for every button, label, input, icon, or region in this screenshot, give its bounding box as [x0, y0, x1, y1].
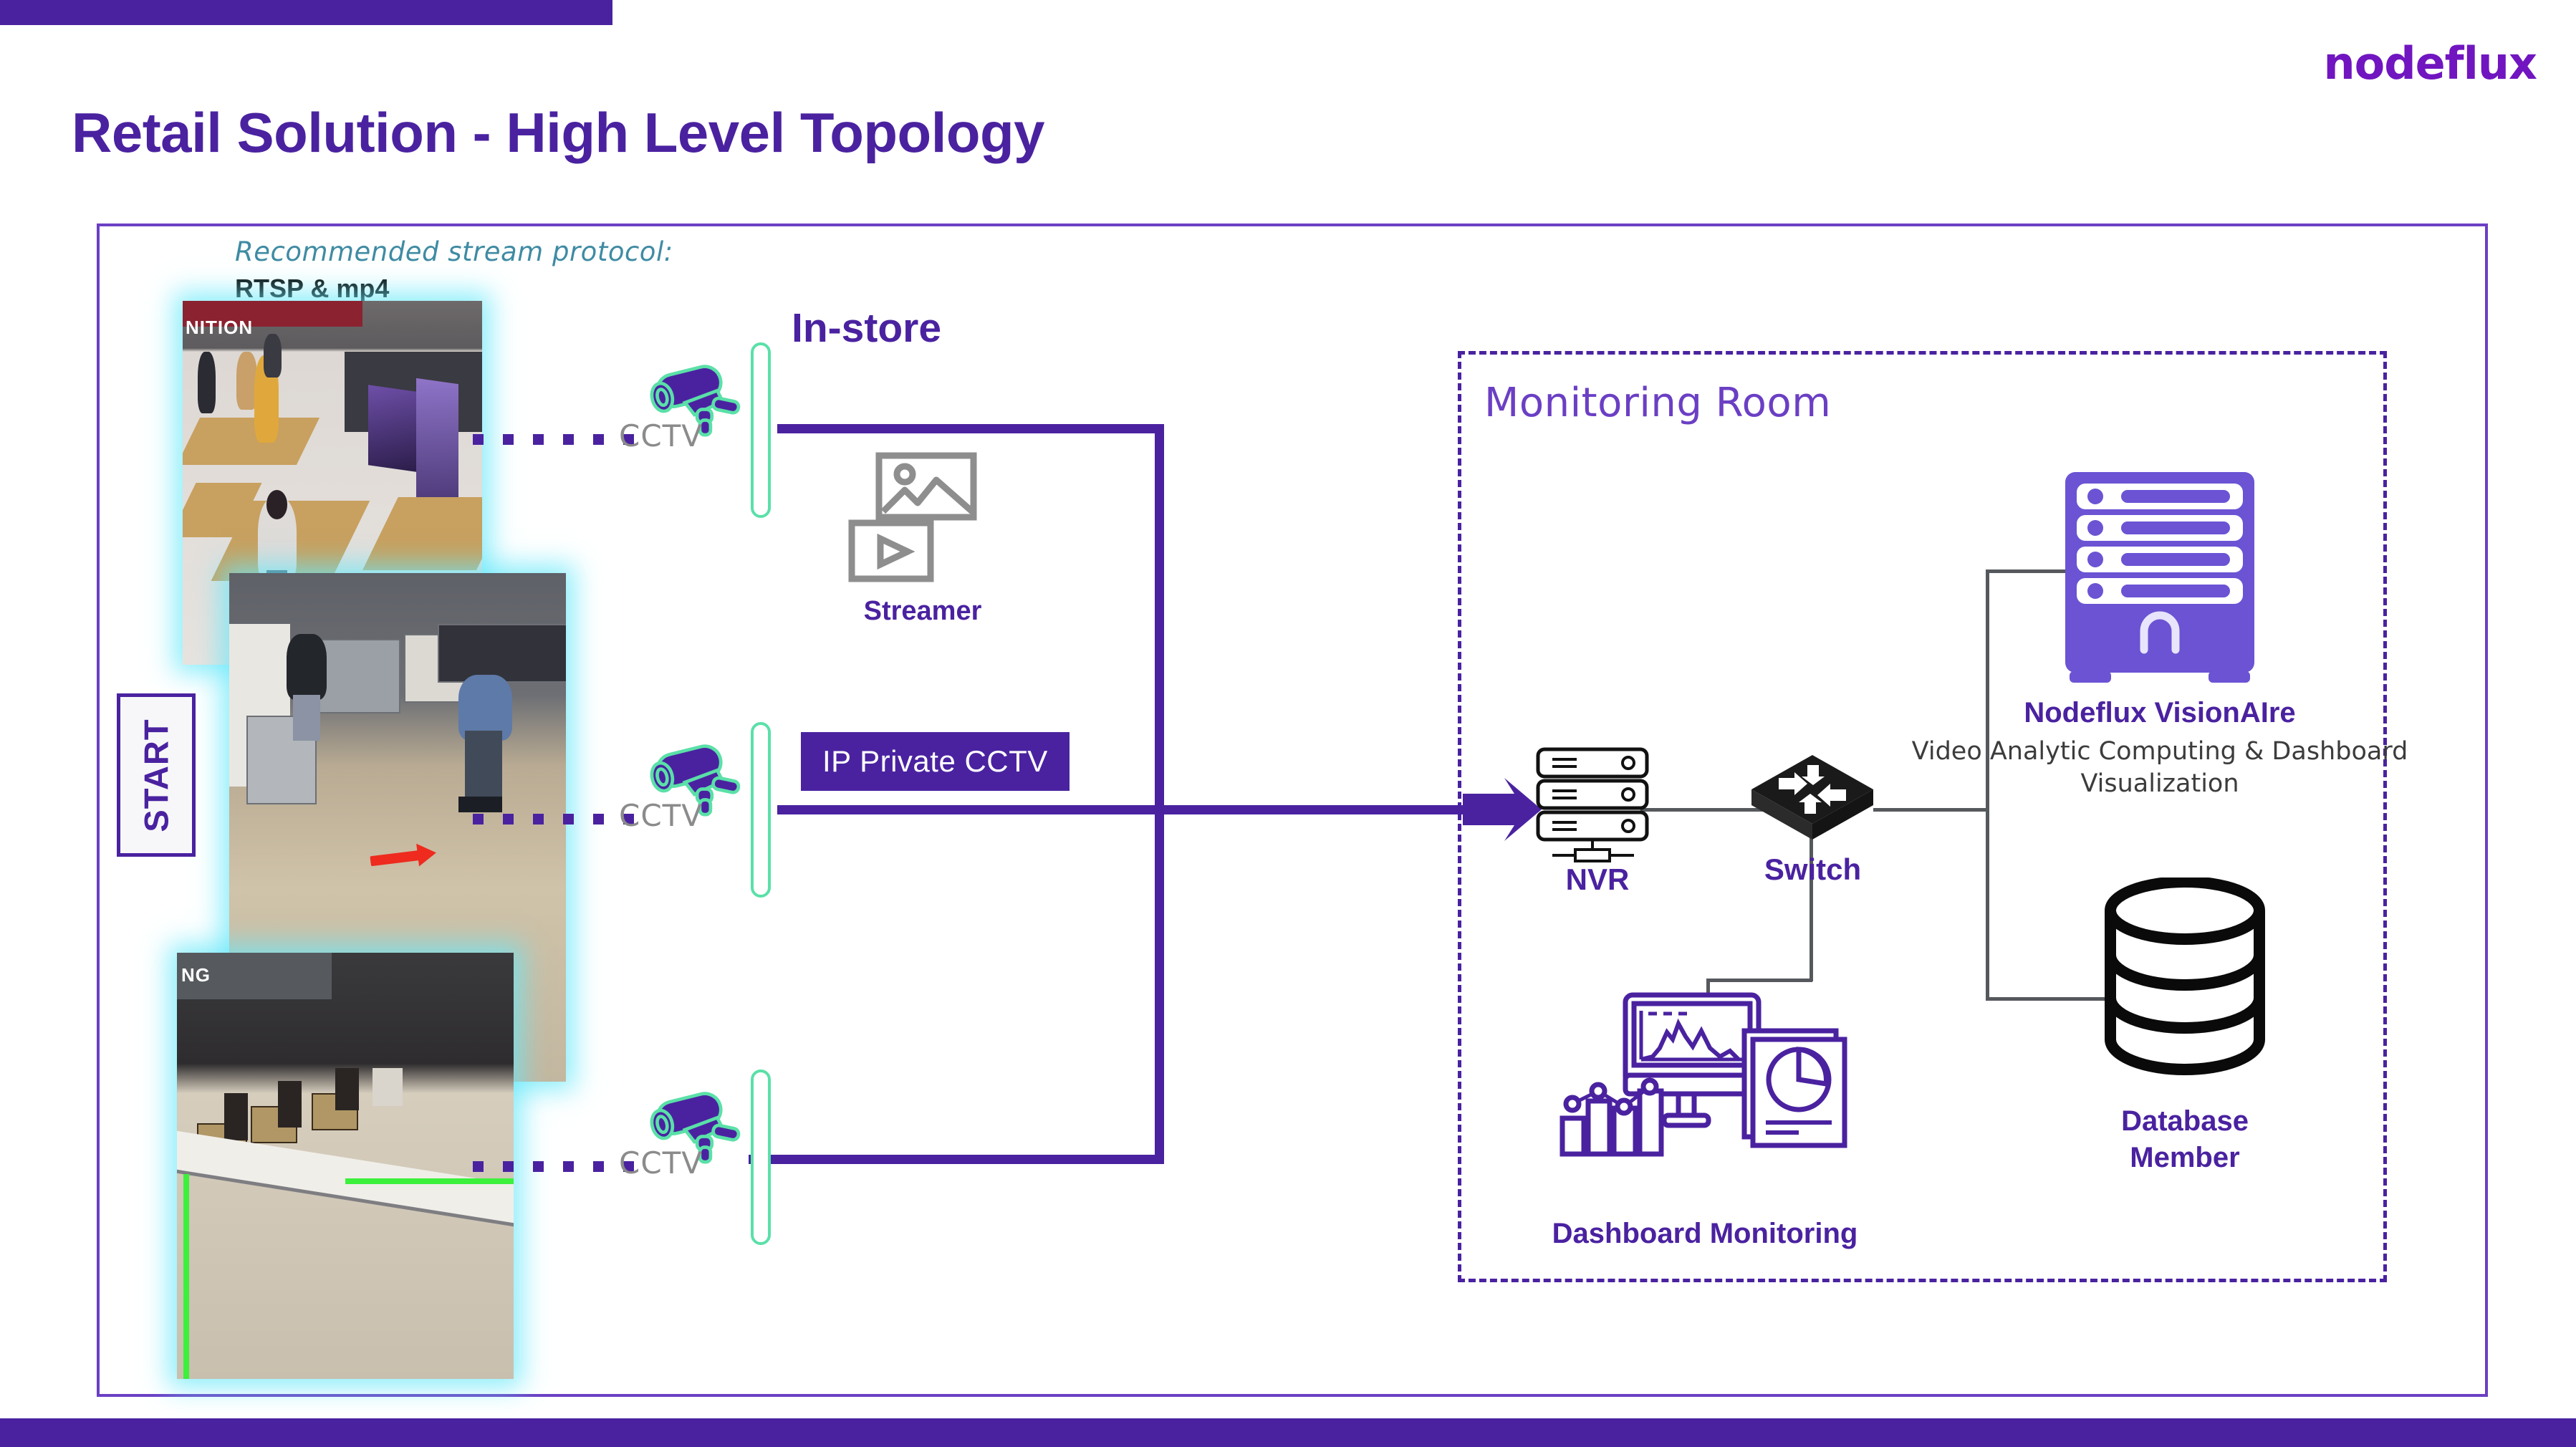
nodeflux-logo: nodeflux	[2323, 37, 2537, 90]
switch-label: Switch	[1718, 852, 1908, 887]
database-label-line-2: Member	[2130, 1142, 2239, 1173]
dashboard-monitoring-node[interactable]: Dashboard Monitoring	[1551, 971, 1859, 1211]
in-store-zone-label: In-store	[792, 304, 941, 352]
top-accent-bar	[0, 0, 612, 25]
cctv-2-dotted-link	[473, 814, 634, 825]
page-title: Retail Solution - High Level Topology	[72, 100, 1044, 165]
database-cylinder-icon	[2099, 878, 2271, 1085]
cctv-1-label: CCTV	[619, 418, 703, 453]
cctv-node-2[interactable]: CCTV	[630, 738, 759, 845]
cctv-3-label: CCTV	[619, 1145, 703, 1181]
database-label: Database Member	[2006, 1103, 2364, 1176]
wire-switch-to-bus	[1873, 808, 1988, 812]
protocol-note-label: Recommended stream protocol:	[235, 236, 673, 267]
visionaire-node[interactable]: Nodeflux VisionAIre Video Analytic Compu…	[2060, 469, 2260, 688]
photo-3-overlay-text: NG	[181, 964, 211, 986]
dashboard-monitoring-label: Dashboard Monitoring	[1486, 1218, 1923, 1250]
cctv-node-1[interactable]: CCTV	[630, 358, 759, 466]
database-node[interactable]: Database Member	[2099, 878, 2271, 1089]
cctv-2-label: CCTV	[619, 798, 703, 833]
nvr-label: NVR	[1508, 862, 1687, 897]
start-badge-label: START	[137, 718, 176, 832]
dashboard-charts-icon	[1551, 971, 1859, 1207]
start-badge: START	[117, 693, 196, 857]
cctv-1-pole-icon	[751, 342, 771, 518]
switch-node[interactable]: Switch	[1750, 752, 1875, 852]
cctv-photo-3: NG	[177, 953, 514, 1379]
network-bus-line	[1155, 424, 1164, 1164]
network-switch-icon	[1750, 752, 1875, 849]
link-camera3-to-bus	[749, 1155, 1164, 1164]
ip-private-cctv-badge: IP Private CCTV	[801, 732, 1070, 791]
cctv-2-pole-icon	[751, 722, 771, 898]
monitoring-room-label: Monitoring Room	[1484, 380, 1831, 426]
link-camera1-to-bus	[777, 424, 1164, 433]
link-bus-to-nvr	[1155, 805, 1477, 814]
image-and-video-frame-icon	[842, 451, 999, 591]
protocol-note-value: RTSP & mp4	[235, 274, 389, 304]
server-rack-outline-icon	[1529, 745, 1666, 863]
database-label-line-1: Database	[2121, 1105, 2249, 1137]
cctv-1-dotted-link	[473, 434, 634, 445]
streamer-node[interactable]: Streamer	[842, 451, 999, 595]
nodeflux-server-icon	[2060, 469, 2260, 684]
cctv-3-pole-icon	[751, 1069, 771, 1245]
ip-private-cctv-label: IP Private CCTV	[822, 744, 1048, 779]
cctv-3-dotted-link	[473, 1161, 634, 1172]
visionaire-title: Nodeflux VisionAIre	[1905, 697, 2414, 729]
nvr-node[interactable]: NVR	[1529, 745, 1666, 867]
streamer-label: Streamer	[826, 596, 1019, 627]
link-camera2-to-bus	[777, 805, 1164, 814]
photo-1-overlay-text: NITION	[186, 317, 253, 339]
visionaire-description: Video Analytic Computing & Dashboard Vis…	[1905, 736, 2414, 800]
bottom-accent-bar	[0, 1418, 2576, 1447]
cctv-node-3[interactable]: CCTV	[630, 1085, 759, 1193]
